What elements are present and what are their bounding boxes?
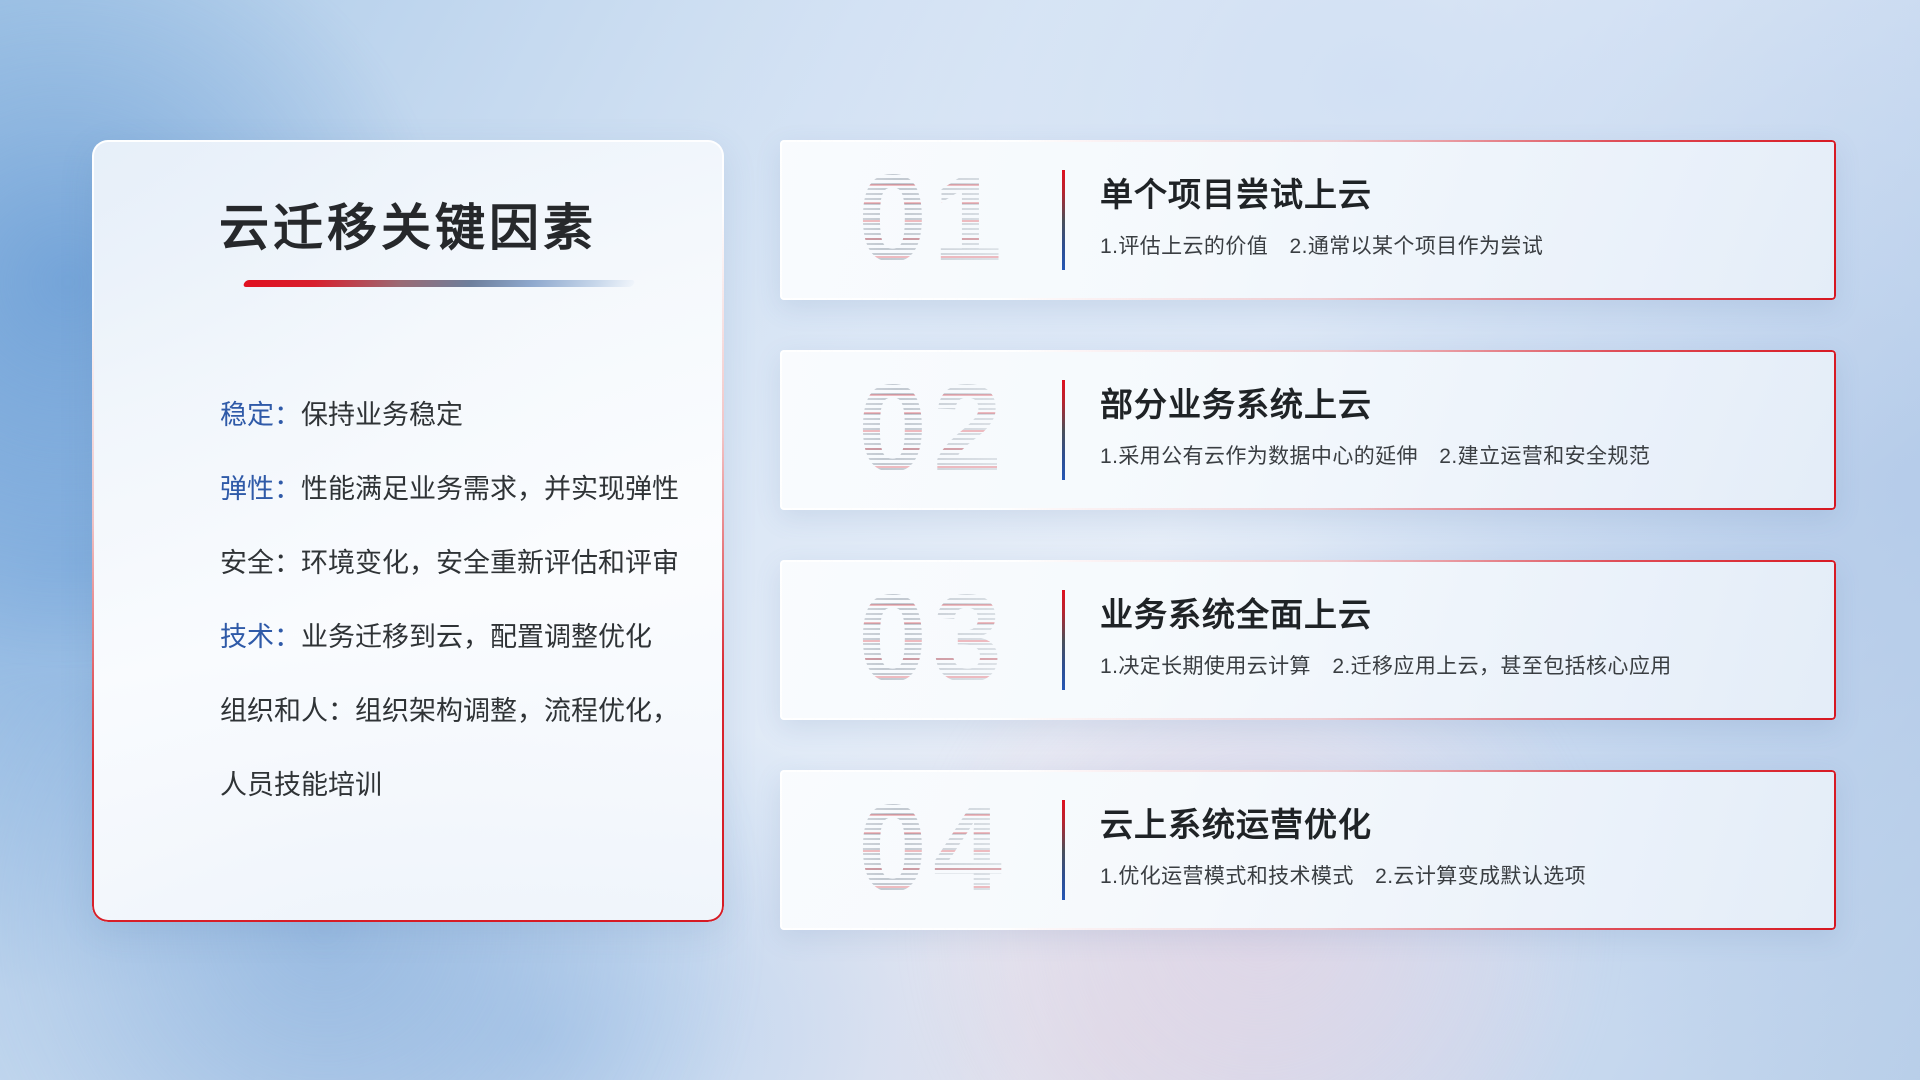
factor-text: 保持业务稳定 [301,400,463,430]
card-description: 1.优化运营模式和技术模式 2.云计算变成默认选项 [1100,860,1812,890]
stage-card[interactable]: 02 02 部分业务系统上云 1.采用公有云作为数据中心的延伸 2.建立运营和安… [780,350,1836,510]
factor-label: 技术： [220,622,301,652]
factor-text: 环境变化，安全重新评估和评审 [301,548,679,578]
stage-number-accent: 03 [808,568,1058,710]
factor-row: 稳定：保持业务稳定 [220,378,688,452]
card-title: 部分业务系统上云 [1100,378,1812,426]
factor-label: 组织和人： [220,696,355,726]
factor-text: 业务迁移到云，配置调整优化 [301,622,652,652]
stage-card[interactable]: 04 04 云上系统运营优化 1.优化运营模式和技术模式 2.云计算变成默认选项 [780,770,1836,930]
factor-row: 安全：环境变化，安全重新评估和评审 [220,526,688,600]
card-divider [1062,170,1065,270]
card-description: 1.评估上云的价值 2.通常以某个项目作为尝试 [1100,230,1812,260]
stage-card[interactable]: 01 01 单个项目尝试上云 1.评估上云的价值 2.通常以某个项目作为尝试 [780,140,1836,300]
panel-title: 云迁移关键因素 [92,188,724,260]
stage-number-accent: 02 [808,358,1058,500]
card-body: 部分业务系统上云 1.采用公有云作为数据中心的延伸 2.建立运营和安全规范 [1100,378,1812,470]
slide-stage: 云迁移关键因素 稳定：保持业务稳定 弹性：性能满足业务需求，并实现弹性 安全：环… [0,0,1920,1080]
stage-card[interactable]: 03 03 业务系统全面上云 1.决定长期使用云计算 2.迁移应用上云，甚至包括… [780,560,1836,720]
card-title: 业务系统全面上云 [1100,588,1812,636]
card-body: 业务系统全面上云 1.决定长期使用云计算 2.迁移应用上云，甚至包括核心应用 [1100,588,1812,680]
factor-row: 技术：业务迁移到云，配置调整优化 [220,600,688,674]
title-underline-rule [242,280,635,287]
factor-text: 性能满足业务需求，并实现弹性 [301,474,679,504]
key-factors-panel: 云迁移关键因素 稳定：保持业务稳定 弹性：性能满足业务需求，并实现弹性 安全：环… [92,140,724,922]
card-divider [1062,380,1065,480]
factor-row: 组织和人：组织架构调整，流程优化，人员技能培训 [220,674,688,822]
card-description: 1.采用公有云作为数据中心的延伸 2.建立运营和安全规范 [1100,440,1812,470]
factor-row: 弹性：性能满足业务需求，并实现弹性 [220,452,688,526]
card-body: 云上系统运营优化 1.优化运营模式和技术模式 2.云计算变成默认选项 [1100,798,1812,890]
stage-card-list: 01 01 单个项目尝试上云 1.评估上云的价值 2.通常以某个项目作为尝试 0… [780,140,1836,980]
card-description: 1.决定长期使用云计算 2.迁移应用上云，甚至包括核心应用 [1100,650,1812,680]
card-divider [1062,800,1065,900]
card-title: 单个项目尝试上云 [1100,168,1812,216]
card-body: 单个项目尝试上云 1.评估上云的价值 2.通常以某个项目作为尝试 [1100,168,1812,260]
factor-label: 安全： [220,548,301,578]
factor-label: 稳定： [220,400,301,430]
factor-list: 稳定：保持业务稳定 弹性：性能满足业务需求，并实现弹性 安全：环境变化，安全重新… [220,378,688,822]
factor-label: 弹性： [220,474,301,504]
stage-number-accent: 04 [808,778,1058,920]
card-divider [1062,590,1065,690]
stage-number-accent: 01 [808,148,1058,290]
card-title: 云上系统运营优化 [1100,798,1812,846]
